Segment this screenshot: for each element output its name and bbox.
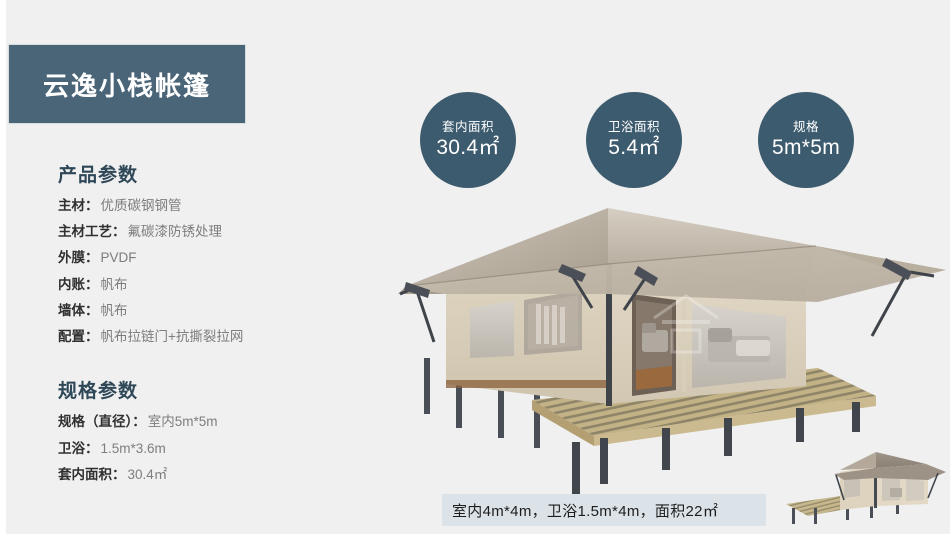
page-title: 云逸小栈帐篷: [43, 66, 211, 103]
spec-label: 套内面积：: [58, 466, 126, 484]
spec-row: 配置： 帆布拉链门+抗撕裂拉网: [58, 328, 358, 346]
spec-row: 主材工艺： 氟碳漆防锈处理: [58, 223, 358, 241]
caption-bar: 室内4m*4m，卫浴1.5m*4m，面积22㎡: [442, 494, 766, 526]
tent-roof: [398, 208, 946, 302]
spec-label: 墙体：: [58, 302, 99, 320]
spec-row: 外膜： PVDF: [58, 249, 358, 267]
section-divider: [58, 354, 358, 376]
section-title-product: 产品参数: [58, 160, 358, 187]
spec-value: 优质碳钢钢管: [101, 197, 182, 215]
title-banner: 云逸小栈帐篷: [8, 44, 246, 124]
spec-label: 配置：: [58, 328, 99, 346]
stat-label: 套内面积: [442, 121, 494, 135]
spec-value: 室内5m*5m: [148, 413, 218, 431]
spec-row: 卫浴： 1.5m*3.6m: [58, 440, 358, 458]
spec-label: 主材工艺：: [58, 223, 126, 241]
spec-row: 内账： 帆布: [58, 276, 358, 294]
slide-root: 云逸小栈帐篷 产品参数 主材： 优质碳钢钢管 主材工艺： 氟碳漆防锈处理 外膜：…: [0, 0, 950, 534]
spec-list-product: 主材： 优质碳钢钢管 主材工艺： 氟碳漆防锈处理 外膜： PVDF 内账： 帆布…: [58, 197, 358, 346]
tent-thumbnail-svg: [778, 446, 948, 532]
stat-label: 规格: [793, 121, 819, 135]
spec-value: PVDF: [101, 249, 137, 267]
section-title-spec: 规格参数: [58, 376, 358, 403]
spec-label: 外膜：: [58, 249, 99, 267]
tent-thumbnail[interactable]: [778, 446, 948, 532]
spec-label: 规格（直径）：: [58, 413, 146, 431]
stat-label: 卫浴面积: [608, 121, 660, 135]
spec-row: 套内面积： 30.4㎡: [58, 466, 358, 484]
spec-label: 内账：: [58, 276, 99, 294]
spec-value: 帆布拉链门+抗撕裂拉网: [101, 328, 244, 346]
spec-label: 卫浴：: [58, 440, 99, 458]
stat-value: 30.4㎡: [436, 137, 499, 159]
stat-circle-dimensions: 规格 5m*5m: [758, 92, 854, 188]
spec-value: 帆布: [101, 276, 128, 294]
stat-value: 5m*5m: [772, 137, 840, 159]
spec-label: 主材：: [58, 197, 99, 215]
stat-circle-interior-area: 套内面积 30.4㎡: [420, 92, 516, 188]
spec-row: 规格（直径）： 室内5m*5m: [58, 413, 358, 431]
spec-value: 30.4㎡: [128, 466, 168, 484]
spec-value: 帆布: [101, 302, 128, 320]
stat-value: 5.4㎡: [608, 137, 659, 159]
caption-text: 室内4m*4m，卫浴1.5m*4m，面积22㎡: [452, 500, 718, 521]
stat-circle-bathroom-area: 卫浴面积 5.4㎡: [586, 92, 682, 188]
spec-row: 墙体： 帆布: [58, 302, 358, 320]
spec-list-spec: 规格（直径）： 室内5m*5m 卫浴： 1.5m*3.6m 套内面积： 30.4…: [58, 413, 358, 484]
spec-value: 1.5m*3.6m: [101, 440, 166, 458]
spec-row: 主材： 优质碳钢钢管: [58, 197, 358, 215]
specification-column: 产品参数 主材： 优质碳钢钢管 主材工艺： 氟碳漆防锈处理 外膜： PVDF 内…: [58, 160, 358, 492]
spec-value: 氟碳漆防锈处理: [128, 223, 223, 241]
